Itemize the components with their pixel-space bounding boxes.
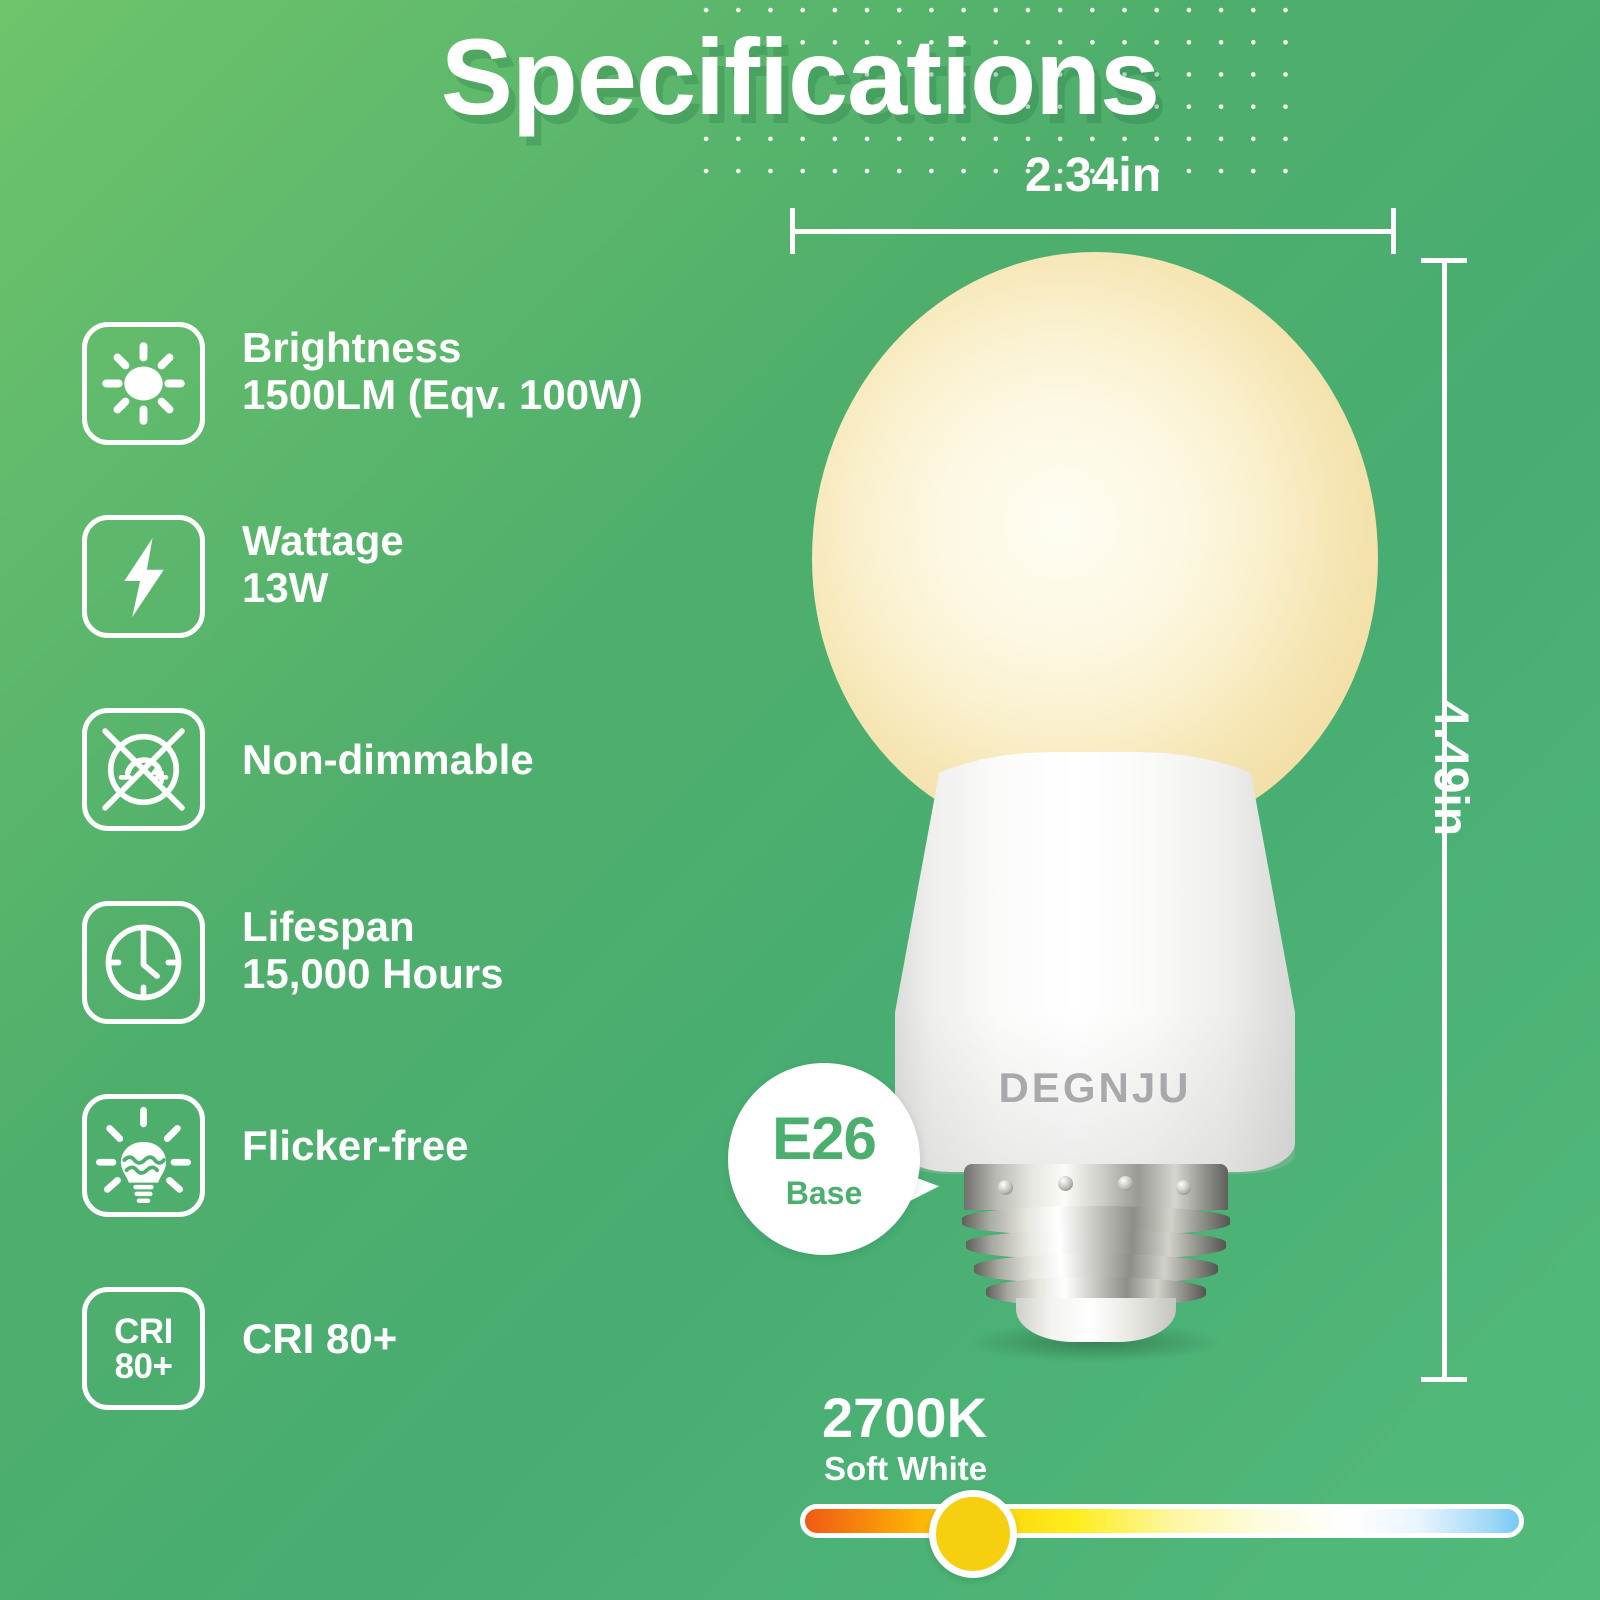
feature-title: Non-dimmable (242, 736, 842, 783)
non-dimmable-icon (82, 708, 205, 831)
base-insulator-tip (1016, 1298, 1176, 1342)
feature-label-cri: CRI 80+ (242, 1315, 842, 1362)
dimension-cap-right (1391, 208, 1396, 254)
color-temperature-slider[interactable] (800, 1498, 1524, 1544)
feature-label-non-dimmable: Non-dimmable (242, 736, 842, 783)
cri-badge-line1: CRI (114, 1314, 173, 1349)
feature-item-non-dimmable: Non-dimmable (82, 708, 842, 901)
feature-label-lifespan: Lifespan 15,000 Hours (242, 903, 842, 998)
e26-caption: Base (786, 1177, 863, 1209)
color-temperature-track[interactable] (800, 1504, 1524, 1538)
callout-bubble: E26 Base (728, 1063, 920, 1255)
dimension-width-label: 2.34in (790, 148, 1396, 203)
lightning-bolt-icon (82, 515, 205, 638)
feature-value: 13W (242, 564, 842, 611)
bulb-screw-base (958, 1164, 1234, 1332)
feature-label-wattage: Wattage 13W (242, 517, 842, 612)
dimension-width-line (790, 208, 1396, 254)
feature-value: 15,000 Hours (242, 950, 842, 997)
cri-badge-text: CRI 80+ (87, 1292, 200, 1405)
feature-title: Brightness (242, 324, 842, 371)
dimension-cap-bottom (1421, 1377, 1467, 1382)
base-rivet-dot (1118, 1176, 1133, 1191)
clock-icon (82, 901, 205, 1024)
feature-title: Wattage (242, 517, 842, 564)
base-rivet-dot (998, 1180, 1013, 1195)
e26-base-callout: E26 Base (728, 1063, 920, 1255)
feature-item-wattage: Wattage 13W (82, 515, 842, 708)
feature-item-cri: CRI 80+ CRI 80+ (82, 1287, 842, 1480)
feature-list: Brightness 1500LM (Eqv. 100W) Wattage 13… (82, 322, 842, 1480)
feature-label-brightness: Brightness 1500LM (Eqv. 100W) (242, 324, 842, 419)
feature-value: 1500LM (Eqv. 100W) (242, 371, 842, 418)
feature-item-brightness: Brightness 1500LM (Eqv. 100W) (82, 322, 842, 515)
base-rivet-dot (1058, 1176, 1073, 1191)
dimension-bar-horizontal (790, 229, 1396, 234)
cri-badge-icon: CRI 80+ (82, 1287, 205, 1410)
flicker-free-bulb-icon (82, 1094, 205, 1217)
e26-value: E26 (772, 1109, 876, 1169)
cri-badge-line2: 80+ (115, 1349, 173, 1384)
color-temperature-value: 2700K (822, 1385, 987, 1450)
brand-logo: DEGNJU (895, 1064, 1295, 1112)
page-title: Specifications (0, 14, 1600, 139)
dimension-height-label: 4.49in (1423, 700, 1478, 836)
feature-title: Lifespan (242, 903, 842, 950)
sun-icon (82, 322, 205, 445)
feature-title: CRI 80+ (242, 1315, 842, 1362)
color-temperature-thumb[interactable] (929, 1490, 1017, 1578)
color-temperature-name: Soft White (824, 1450, 987, 1488)
base-rivet-dot (1176, 1180, 1191, 1195)
